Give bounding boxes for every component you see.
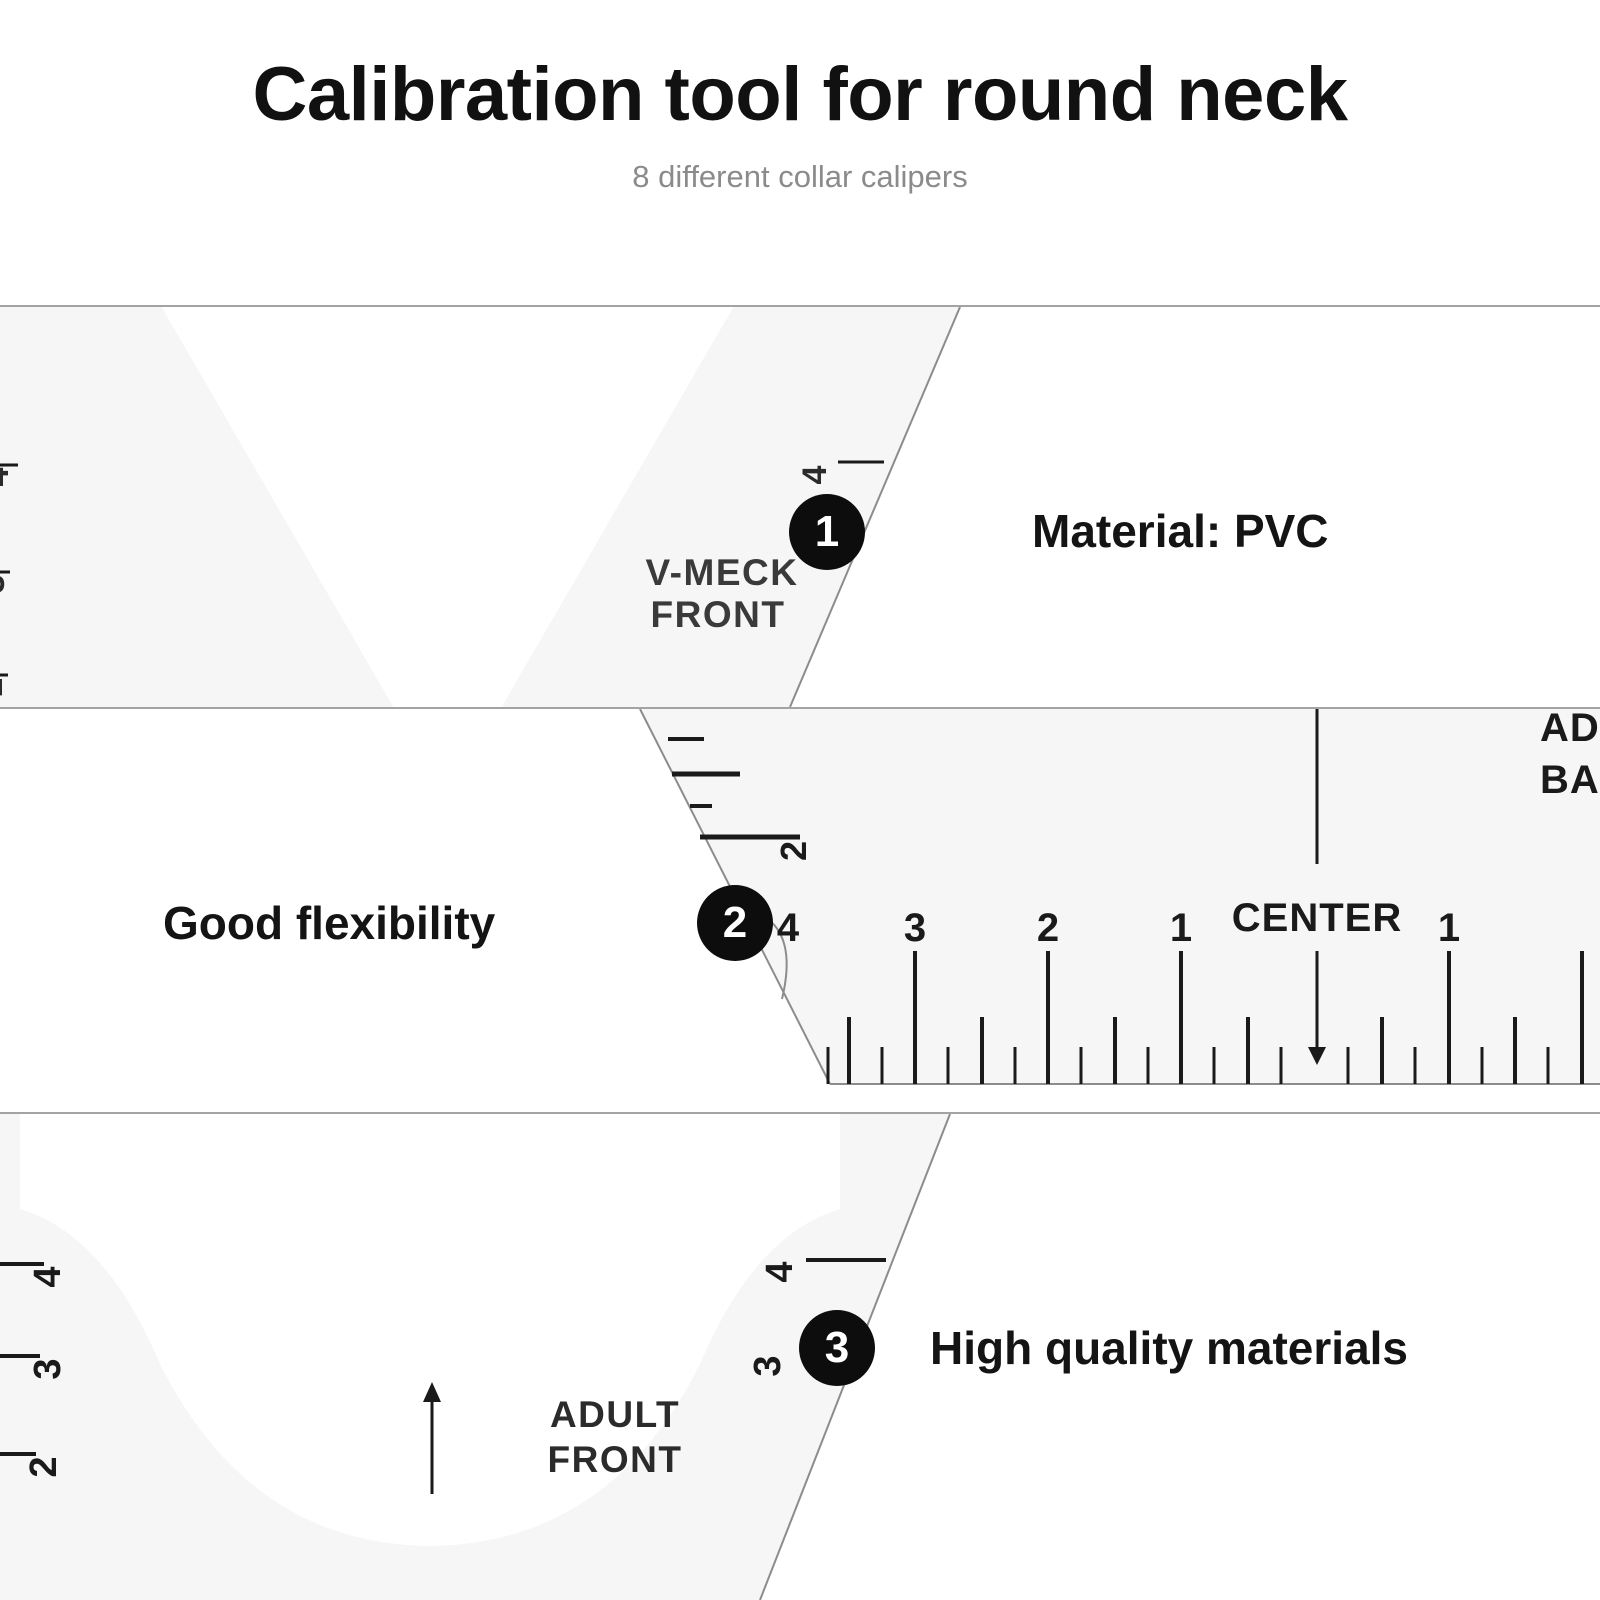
- feature-badge-2: 2: [697, 885, 773, 961]
- center-label: CENTER: [1232, 896, 1402, 940]
- page-header: Calibration tool for round neck 8 differ…: [0, 0, 1600, 305]
- svg-text:4: 4: [759, 1261, 801, 1282]
- scale-number-2: 2: [1037, 906, 1059, 950]
- svg-text:3: 3: [27, 1358, 69, 1379]
- feature-label-2: Good flexibility: [163, 900, 495, 946]
- scale-number-1-left: 1: [1170, 906, 1192, 950]
- tool-label-line1: ADULT: [1540, 709, 1600, 750]
- page-subtitle: 8 different collar calipers: [0, 158, 1600, 195]
- tool-label-line1: ADULT: [550, 1394, 680, 1435]
- svg-text:2: 2: [23, 1456, 65, 1477]
- page-title: Calibration tool for round neck: [0, 55, 1600, 135]
- svg-text:4: 4: [0, 467, 16, 486]
- scale-number-1-right: 1: [1438, 906, 1460, 950]
- scale-number-3: 3: [904, 906, 926, 950]
- ruler-upper-number-2: 2: [773, 841, 814, 861]
- tool-label-line2: FRONT: [548, 1439, 683, 1480]
- svg-text:4: 4: [796, 465, 834, 484]
- feature-badge-1: 1: [789, 494, 865, 570]
- feature-badge-3: 3: [799, 1310, 875, 1386]
- tool-label-line2: BACK: [1540, 758, 1600, 802]
- scale-number-4: 4: [777, 906, 800, 950]
- tool-label-line2: FRONT: [651, 594, 786, 635]
- svg-text:3: 3: [747, 1355, 789, 1376]
- svg-text:4: 4: [27, 1266, 69, 1287]
- ruler-body-shape: [640, 709, 1600, 1084]
- page-root: Calibration tool for round neck 8 differ…: [0, 0, 1600, 1600]
- tool-label-line1: V-MECK: [646, 552, 799, 593]
- svg-text:2: 2: [0, 678, 10, 697]
- feature-label-3: High quality materials: [930, 1325, 1408, 1371]
- feature-label-1: Material: PVC: [1032, 508, 1329, 554]
- svg-text:3: 3: [0, 575, 12, 594]
